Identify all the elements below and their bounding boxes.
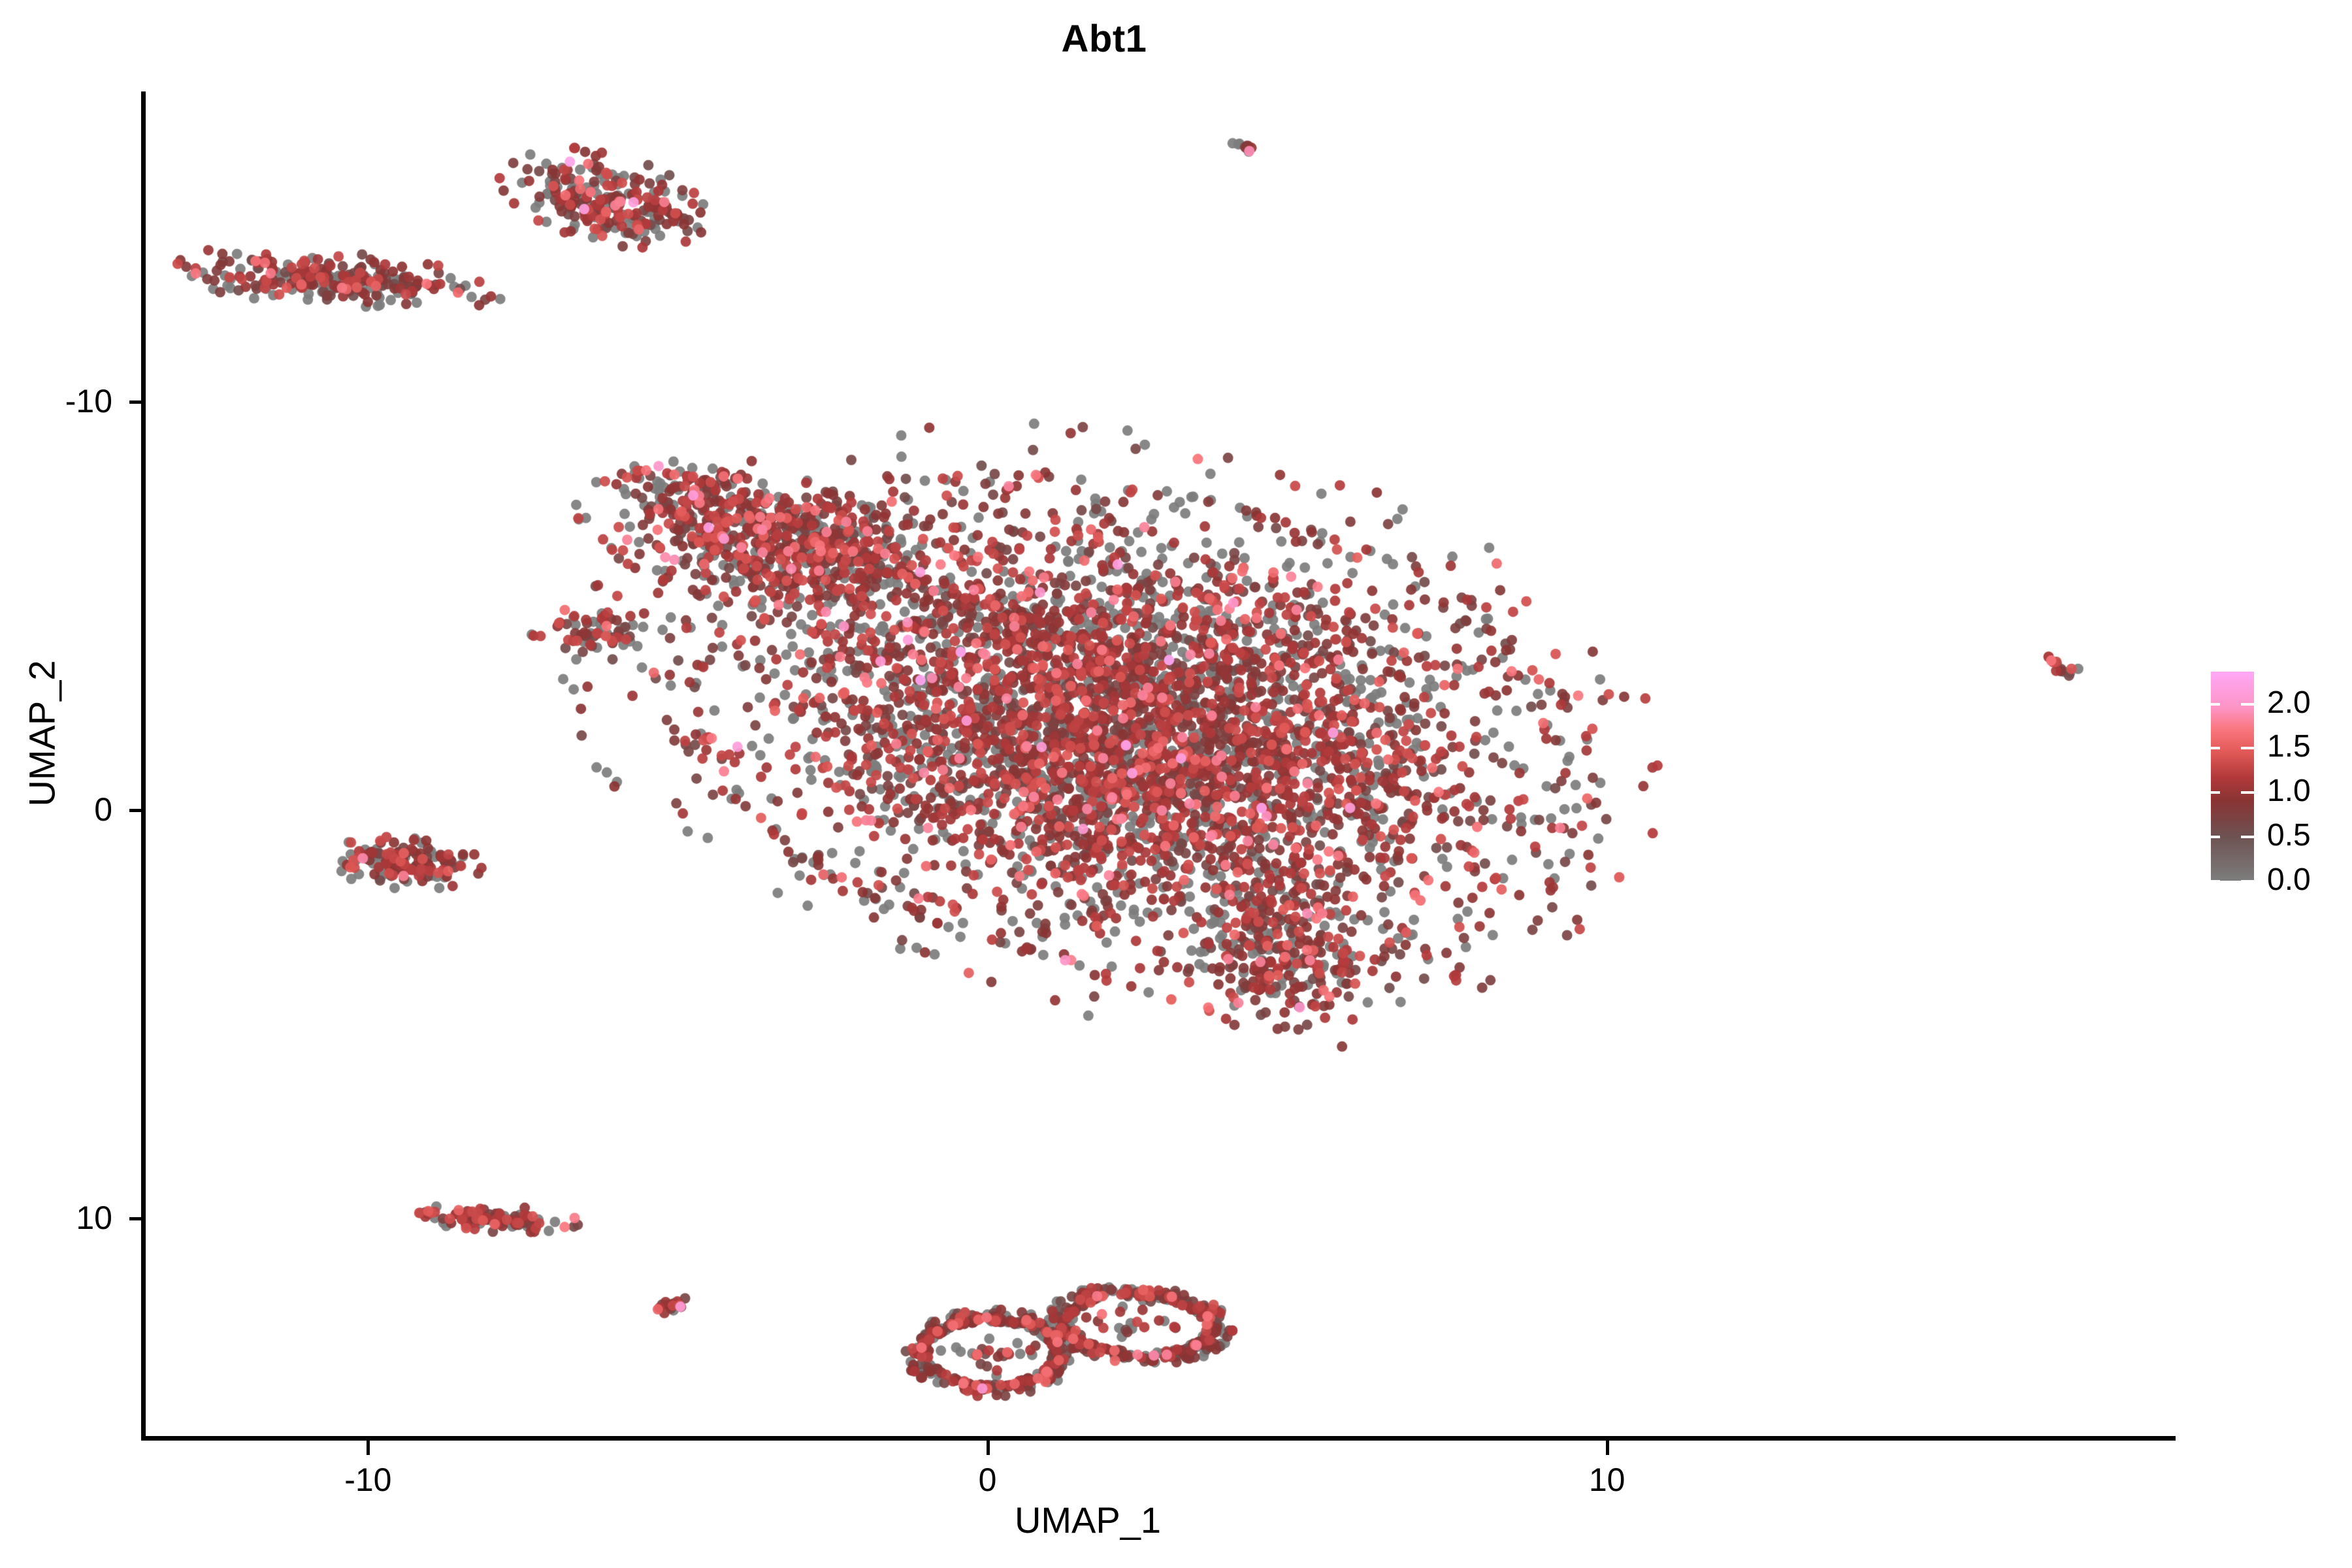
colorbar-label-1-5: 1.5 [2267,731,2311,762]
colorbar-tick-mark [2211,747,2220,749]
umap-feature-plot: Abt1 10 0 -10 -10 0 10 UMAP_1 UMAP_2 2.0… [0,0,2352,1568]
page-title: Abt1 [0,17,2208,61]
y-tick-label-neg10: -10 [8,382,112,420]
colorbar-tick-mark [2241,880,2254,883]
colorbar-label-2-0: 2.0 [2267,687,2311,719]
plot-panel [145,91,2177,1439]
colorbar-tick-mark [2211,703,2220,706]
x-tick-mark [987,1441,990,1455]
colorbar-tick-mark [2241,703,2254,706]
colorbar-ticks [2211,672,2254,881]
x-axis-line [141,1436,2176,1441]
colorbar-tick-mark [2241,836,2254,838]
legend-colorbar: 2.0 1.5 1.0 0.5 0.0 [2211,672,2348,882]
x-tick-label-neg10: -10 [302,1461,433,1499]
y-tick-mark [129,1217,144,1220]
y-axis-title: UMAP_2 [21,603,63,864]
colorbar-tick-mark [2211,791,2220,794]
y-tick-mark [129,809,144,812]
y-tick-label-10: 10 [8,1199,112,1237]
colorbar-label-0-0: 0.0 [2267,864,2311,896]
y-axis-line [141,91,146,1439]
scatter-plot-canvas [145,91,2177,1439]
x-tick-mark [367,1441,370,1455]
y-tick-mark [129,400,144,404]
colorbar-label-1-0: 1.0 [2267,776,2311,807]
colorbar-tick-mark [2211,880,2220,883]
x-axis-title: UMAP_1 [0,1499,2176,1541]
x-tick-label-10: 10 [1542,1461,1673,1499]
colorbar-tick-mark [2241,747,2254,749]
colorbar-labels: 2.0 1.5 1.0 0.5 0.0 [2267,672,2345,881]
colorbar-tick-mark [2241,791,2254,794]
colorbar-tick-mark [2211,836,2220,838]
x-tick-mark [1606,1441,1609,1455]
colorbar-label-0-5: 0.5 [2267,820,2311,851]
x-tick-label-0: 0 [923,1461,1053,1499]
